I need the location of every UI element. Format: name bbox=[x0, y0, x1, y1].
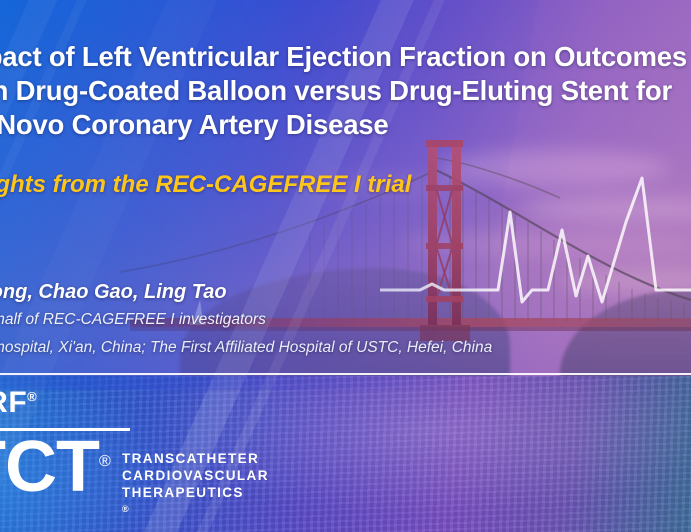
presentation-title-slide: Impact of Left Ventricular Ejection Frac… bbox=[0, 0, 691, 532]
slide-subtitle: Insights from the REC-CAGEFREE I trial bbox=[0, 171, 691, 199]
tct-logo-text: TCT bbox=[0, 427, 99, 507]
registered-mark: ® bbox=[122, 504, 129, 514]
title-line-2: with Drug-Coated Balloon versus Drug-Elu… bbox=[0, 74, 691, 108]
tct-word-line-3: THERAPEUTICS® bbox=[122, 484, 269, 522]
tct-logo: TCT® bbox=[0, 434, 110, 502]
tct-word-line-2: CARDIOVASCULAR bbox=[122, 467, 269, 484]
registered-mark: ® bbox=[99, 453, 110, 470]
registered-mark: ® bbox=[27, 389, 37, 404]
crf-logo-text: CRF bbox=[0, 386, 27, 419]
affiliations-line: Xijing hospital, Xi'an, China; The First… bbox=[0, 339, 492, 357]
tct-word-line-3-text: THERAPEUTICS bbox=[122, 484, 269, 501]
on-behalf-of-line: On behalf of REC-CAGEFREE I investigator… bbox=[0, 311, 266, 329]
title-line-1: Impact of Left Ventricular Ejection Frac… bbox=[0, 40, 691, 74]
title-line-3: De Novo Coronary Artery Disease bbox=[0, 108, 691, 142]
crf-logo: CRF® bbox=[0, 388, 37, 418]
author-list: Li Song, Chao Gao, Ling Tao bbox=[0, 281, 227, 304]
tct-wordmark: TRANSCATHETER CARDIOVASCULAR THERAPEUTIC… bbox=[122, 450, 269, 522]
slide-title: Impact of Left Ventricular Ejection Frac… bbox=[0, 40, 691, 142]
horizontal-divider bbox=[0, 373, 691, 375]
tct-word-line-1: TRANSCATHETER bbox=[122, 450, 269, 467]
